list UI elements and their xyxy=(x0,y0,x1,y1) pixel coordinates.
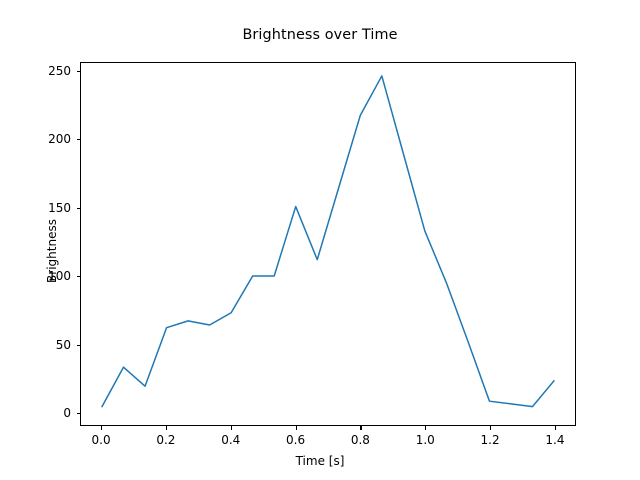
y-tick-label: 0 xyxy=(63,407,71,419)
x-tick-label: 1.4 xyxy=(545,434,564,446)
x-tick-mark xyxy=(555,426,556,430)
figure-canvas: Brightness over Time 050100150200250 0.0… xyxy=(0,0,640,480)
plot-axes xyxy=(80,62,576,426)
y-tick-mark xyxy=(77,413,81,414)
y-tick-label: 200 xyxy=(48,133,71,145)
x-tick-mark xyxy=(490,426,491,430)
brightness-line-series xyxy=(102,76,554,407)
x-tick-label: 0.4 xyxy=(221,434,240,446)
y-axis-label: Brightness xyxy=(45,191,59,311)
y-tick-mark xyxy=(77,71,81,72)
x-axis-tick-labels: 0.00.20.40.60.81.01.21.4 xyxy=(0,434,640,450)
y-tick-mark xyxy=(77,208,81,209)
y-tick-label: 50 xyxy=(56,339,71,351)
x-tick-label: 1.0 xyxy=(416,434,435,446)
x-tick-label: 1.2 xyxy=(481,434,500,446)
x-tick-mark xyxy=(425,426,426,430)
y-tick-label: 250 xyxy=(48,65,71,77)
y-axis-tick-labels: 050100150200250 xyxy=(0,0,71,480)
x-tick-label: 0.0 xyxy=(92,434,111,446)
line-plot xyxy=(81,63,575,425)
x-axis-label: Time [s] xyxy=(0,454,640,468)
x-tick-mark xyxy=(296,426,297,430)
x-tick-label: 0.2 xyxy=(156,434,175,446)
x-tick-mark xyxy=(101,426,102,430)
y-tick-mark xyxy=(77,139,81,140)
y-tick-mark xyxy=(77,276,81,277)
x-tick-mark xyxy=(360,426,361,430)
x-tick-mark xyxy=(231,426,232,430)
x-tick-label: 0.8 xyxy=(351,434,370,446)
chart-title: Brightness over Time xyxy=(0,27,640,43)
y-tick-mark xyxy=(77,345,81,346)
x-tick-mark xyxy=(166,426,167,430)
x-tick-label: 0.6 xyxy=(286,434,305,446)
